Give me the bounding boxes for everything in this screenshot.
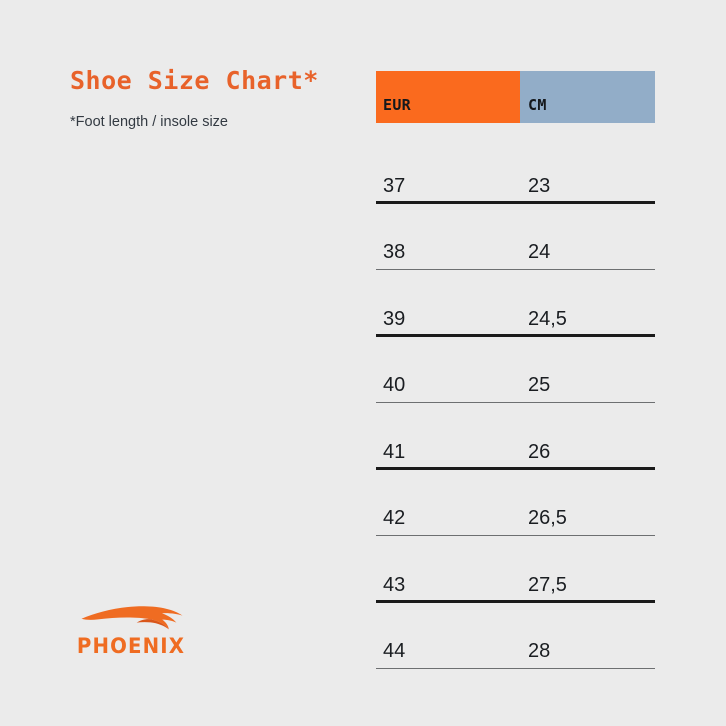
page-root: Shoe Size Chart* *Foot length / insole s… <box>0 0 726 726</box>
cell-eur: 44 <box>376 640 520 669</box>
column-header-cm: CM <box>520 71 655 123</box>
table-row: 38 24 <box>376 204 655 271</box>
cell-eur: 40 <box>376 374 520 403</box>
cell-cm: 26,5 <box>520 507 655 536</box>
table-row: 39 24,5 <box>376 270 655 337</box>
table-row: 37 23 <box>376 137 655 204</box>
row-divider <box>376 668 655 670</box>
cell-cm: 26 <box>520 441 655 470</box>
cell-cm: 23 <box>520 175 655 204</box>
cell-eur: 42 <box>376 507 520 536</box>
page-subtitle: *Foot length / insole size <box>70 98 360 132</box>
table-row: 42 26,5 <box>376 470 655 537</box>
table-row: 40 25 <box>376 337 655 404</box>
left-info-panel: Shoe Size Chart* *Foot length / insole s… <box>70 64 360 132</box>
cell-eur: 38 <box>376 241 520 270</box>
table-body: 37 23 38 24 39 24,5 40 25 41 26 <box>376 123 655 669</box>
cell-eur: 41 <box>376 441 520 470</box>
cell-cm: 24 <box>520 241 655 270</box>
table-row: 41 26 <box>376 403 655 470</box>
size-chart-table: EUR CM 37 23 38 24 39 24,5 40 25 <box>376 71 655 669</box>
cell-cm: 28 <box>520 640 655 669</box>
cell-cm: 24,5 <box>520 308 655 337</box>
brand-wordmark: PHOENIX <box>70 634 192 658</box>
table-row: 44 28 <box>376 603 655 670</box>
page-title: Shoe Size Chart* <box>70 64 360 98</box>
cell-eur: 37 <box>376 175 520 204</box>
cell-cm: 27,5 <box>520 574 655 603</box>
column-header-eur: EUR <box>376 71 520 123</box>
table-row: 43 27,5 <box>376 536 655 603</box>
phoenix-wing-icon <box>80 604 184 634</box>
table-header-row: EUR CM <box>376 71 655 123</box>
cell-cm: 25 <box>520 374 655 403</box>
cell-eur: 39 <box>376 308 520 337</box>
brand-logo: PHOENIX <box>66 604 196 662</box>
cell-eur: 43 <box>376 574 520 603</box>
